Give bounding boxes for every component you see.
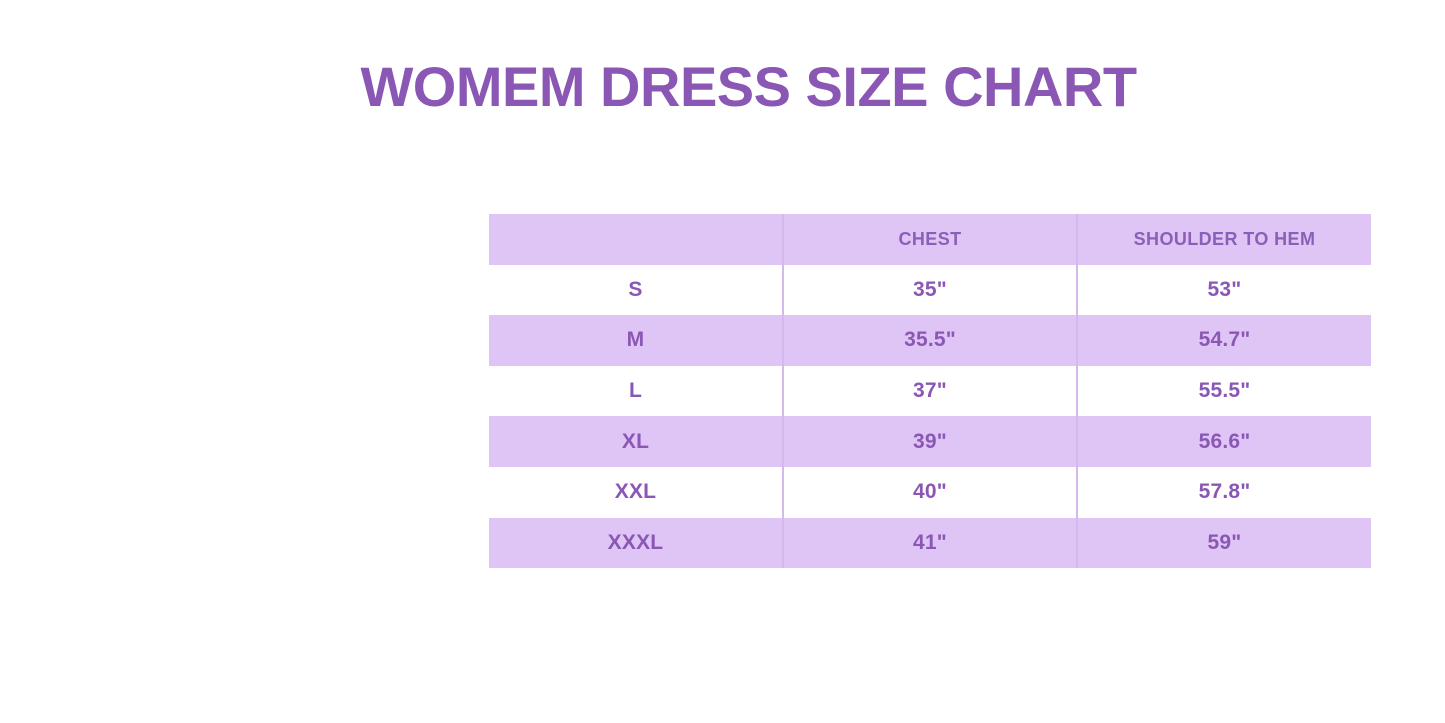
cell-shoulder-to-hem: 54.7" [1077, 315, 1371, 366]
table-row: XL 39" 56.6" [489, 416, 1371, 467]
cell-size: M [489, 315, 783, 366]
table-row: XXL 40" 57.8" [489, 467, 1371, 518]
size-chart-page: WOMEM DRESS SIZE CHART CHEST SHOULDER TO… [0, 0, 1445, 723]
cell-shoulder-to-hem: 56.6" [1077, 416, 1371, 467]
column-header-shoulder-to-hem: SHOULDER TO HEM [1077, 214, 1371, 265]
cell-chest: 40" [783, 467, 1077, 518]
table-row: M 35.5" 54.7" [489, 315, 1371, 366]
cell-chest: 37" [783, 366, 1077, 417]
table-row: S 35" 53" [489, 265, 1371, 316]
column-header-chest: CHEST [783, 214, 1077, 265]
cell-size: XXXL [489, 518, 783, 569]
cell-chest: 35" [783, 265, 1077, 316]
size-chart-table: CHEST SHOULDER TO HEM S 35" 53" M 35.5" … [489, 214, 1371, 568]
cell-chest: 39" [783, 416, 1077, 467]
column-header-size [489, 214, 783, 265]
table-header: CHEST SHOULDER TO HEM [489, 214, 1371, 265]
cell-shoulder-to-hem: 53" [1077, 265, 1371, 316]
cell-shoulder-to-hem: 59" [1077, 518, 1371, 569]
cell-shoulder-to-hem: 57.8" [1077, 467, 1371, 518]
cell-shoulder-to-hem: 55.5" [1077, 366, 1371, 417]
cell-size: L [489, 366, 783, 417]
table-body: S 35" 53" M 35.5" 54.7" L 37" 55.5" XL 3… [489, 265, 1371, 569]
cell-chest: 35.5" [783, 315, 1077, 366]
table-row: XXXL 41" 59" [489, 518, 1371, 569]
page-title: WOMEM DRESS SIZE CHART [0, 54, 1445, 120]
cell-size: XL [489, 416, 783, 467]
cell-size: XXL [489, 467, 783, 518]
cell-size: S [489, 265, 783, 316]
table-row: L 37" 55.5" [489, 366, 1371, 417]
size-chart-table-container: CHEST SHOULDER TO HEM S 35" 53" M 35.5" … [489, 214, 1371, 568]
cell-chest: 41" [783, 518, 1077, 569]
table-header-row: CHEST SHOULDER TO HEM [489, 214, 1371, 265]
